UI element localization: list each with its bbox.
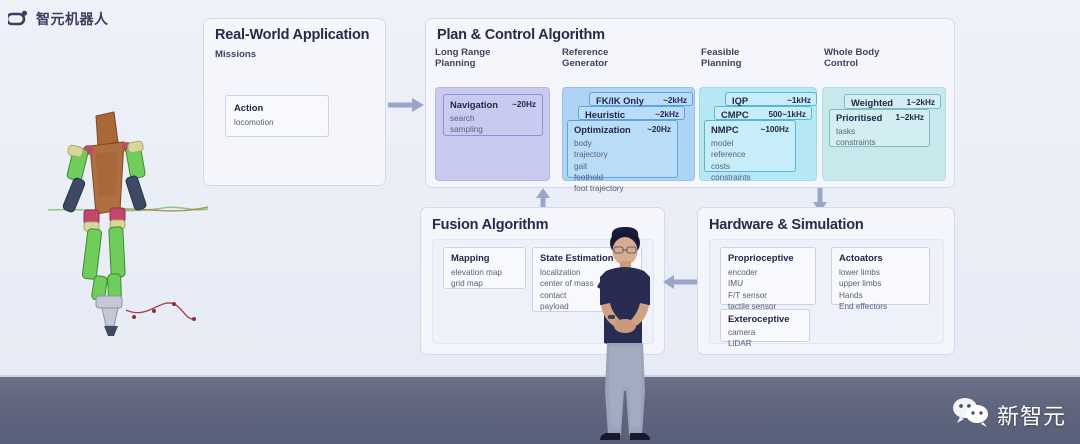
panel-title: Hardware & Simulation [709, 217, 864, 233]
tile-prioritised[interactable]: Prioritised 1~2kHz tasks constraints [829, 109, 930, 147]
tile-item: encoder [728, 267, 776, 278]
tile-actoators[interactable]: Actoators lower limbs upper limbs Hands … [831, 247, 930, 305]
tile-item: lower limbs [839, 267, 887, 278]
group-reference-generator[interactable]: FK/IK Only ~2kHz Heuristic ~2kHz Optimiz… [562, 87, 695, 181]
panel-hardware-simulation[interactable]: Hardware & Simulation Proprioceptive enc… [697, 207, 955, 355]
tile-title: Mapping [451, 252, 490, 263]
tile-item: elevation map [451, 267, 502, 278]
tile-title: Heuristic [585, 109, 625, 120]
humanoid-robot-figure [48, 98, 208, 343]
tile-iqp[interactable]: IQP ~1kHz [725, 92, 817, 106]
column-whole-body-control: Whole Body Control [824, 47, 944, 70]
column-head-line1: Feasible [701, 47, 821, 58]
brand-name: 智元机器人 [36, 9, 109, 29]
tile-item: reference [711, 149, 751, 160]
tile-item: gait [574, 161, 624, 172]
tile-frequency: ~100Hz [761, 125, 789, 134]
tile-items: tasks constraints [836, 126, 876, 149]
column-reference-generator: Reference Generator [562, 47, 682, 70]
tile-proprioceptive[interactable]: Proprioceptive encoder IMU F/T sensor ta… [720, 247, 816, 305]
tile-items: encoder IMU F/T sensor tactile sensor [728, 267, 776, 312]
tile-item: model [711, 138, 751, 149]
tile-item: LiDAR [728, 338, 755, 349]
column-head-line2: Planning [701, 58, 821, 69]
tile-item: foothold [574, 172, 624, 183]
tile-title: NMPC [711, 124, 739, 135]
tile-item: IMU [728, 278, 776, 289]
tile-title: Actoators [839, 252, 883, 263]
column-long-range-planning: Long Range Planning [435, 47, 555, 70]
tile-frequency: 1~2kHz [907, 98, 935, 107]
tile-mapping[interactable]: Mapping elevation map grid map [443, 247, 526, 289]
tile-exteroceptive[interactable]: Exteroceptive camera LiDAR [720, 309, 810, 342]
tile-cmpc[interactable]: CMPC 500~1kHz [714, 106, 812, 120]
tile-frequency: ~1kHz [787, 96, 811, 105]
tile-item: grid map [451, 278, 502, 289]
tile-item: sampling [450, 124, 483, 135]
tile-title: Exteroceptive [728, 313, 790, 324]
tile-heuristic[interactable]: Heuristic ~2kHz [578, 106, 685, 120]
brand-logo: 智元机器人 [8, 8, 109, 30]
tile-item: trajectory [574, 149, 624, 160]
column-head-line1: Whole Body [824, 47, 944, 58]
group-hardware-body: Proprioceptive encoder IMU F/T sensor ta… [709, 239, 944, 344]
group-whole-body-control[interactable]: Weighted 1~2kHz Prioritised 1~2kHz tasks… [822, 87, 946, 181]
tile-title: Optimization [574, 124, 631, 135]
tile-frequency: ~2kHz [663, 96, 687, 105]
group-feasible-planning[interactable]: IQP ~1kHz CMPC 500~1kHz NMPC ~100Hz mode… [699, 87, 817, 181]
tile-item: F/T sensor [728, 290, 776, 301]
tile-title: CMPC [721, 109, 749, 120]
channel-watermark: 新智元 [952, 397, 1066, 432]
tile-items: lower limbs upper limbs Hands End effect… [839, 267, 887, 312]
column-head-line2: Control [824, 58, 944, 69]
tile-title: Navigation [450, 99, 498, 110]
tile-action[interactable]: Action locomotion [225, 95, 329, 137]
tile-title: IQP [732, 95, 748, 106]
column-head-line2: Planning [435, 58, 555, 69]
zhiyuan-logo-icon [8, 8, 30, 30]
tile-item: search [450, 113, 483, 124]
column-head-line1: Long Range [435, 47, 555, 58]
tile-item: body [574, 138, 624, 149]
tile-title: Action [234, 102, 263, 113]
tile-item: constraints [711, 172, 751, 183]
tile-items: model reference costs constraints [711, 138, 751, 183]
wechat-icon [952, 397, 990, 432]
panel-title: Real-World Application [215, 27, 369, 43]
tile-item: tasks [836, 126, 876, 137]
tile-item: foot trajectory [574, 183, 624, 194]
stage-floor [0, 377, 1080, 444]
tile-items: locomotion [234, 117, 274, 128]
tile-frequency: 1~2kHz [896, 113, 924, 122]
panel-real-world-application[interactable]: Real-World Application Missions Action l… [203, 18, 386, 186]
tile-item: End effectors [839, 301, 887, 312]
tile-item: costs [711, 161, 751, 172]
tile-title: Weighted [851, 97, 893, 108]
tile-frequency: ~2kHz [655, 110, 679, 119]
column-head-line2: Generator [562, 58, 682, 69]
panel-title: Fusion Algorithm [432, 217, 548, 233]
tile-title: Proprioceptive [728, 252, 794, 263]
section-label-missions: Missions [215, 49, 256, 60]
tile-items: body trajectory gait foothold foot traje… [574, 138, 624, 195]
tile-frequency: ~20Hz [512, 100, 536, 109]
tile-item: constraints [836, 137, 876, 148]
tile-nmpc[interactable]: NMPC ~100Hz model reference costs constr… [704, 120, 796, 172]
tile-weighted[interactable]: Weighted 1~2kHz [844, 94, 941, 109]
tile-frequency: 500~1kHz [768, 110, 806, 119]
tile-items: search sampling [450, 113, 483, 136]
panel-plan-control-algorithm[interactable]: Plan & Control Algorithm Long Range Plan… [425, 18, 955, 188]
tile-title: FK/IK Only [596, 95, 644, 106]
tile-optimization[interactable]: Optimization ~20Hz body trajectory gait … [567, 120, 678, 178]
watermark-text: 新智元 [997, 399, 1066, 431]
presentation-stage: 智元机器人 [0, 0, 1080, 444]
arrow-app-to-plan [388, 95, 426, 115]
tile-title: Prioritised [836, 112, 882, 123]
column-head-line1: Reference [562, 47, 682, 58]
presenter-person [578, 227, 673, 444]
tile-item: camera [728, 327, 755, 338]
column-feasible-planning: Feasible Planning [701, 47, 821, 70]
group-long-range-planning[interactable]: Navigation ~20Hz search sampling [435, 87, 550, 181]
tile-frequency: ~20Hz [647, 125, 671, 134]
tile-item: Hands [839, 290, 887, 301]
tile-fk-ik-only[interactable]: FK/IK Only ~2kHz [589, 92, 693, 106]
panel-title: Plan & Control Algorithm [437, 27, 605, 43]
tile-item: upper limbs [839, 278, 887, 289]
tile-items: camera LiDAR [728, 327, 755, 350]
tile-items: elevation map grid map [451, 267, 502, 290]
tile-navigation[interactable]: Navigation ~20Hz search sampling [443, 94, 543, 136]
